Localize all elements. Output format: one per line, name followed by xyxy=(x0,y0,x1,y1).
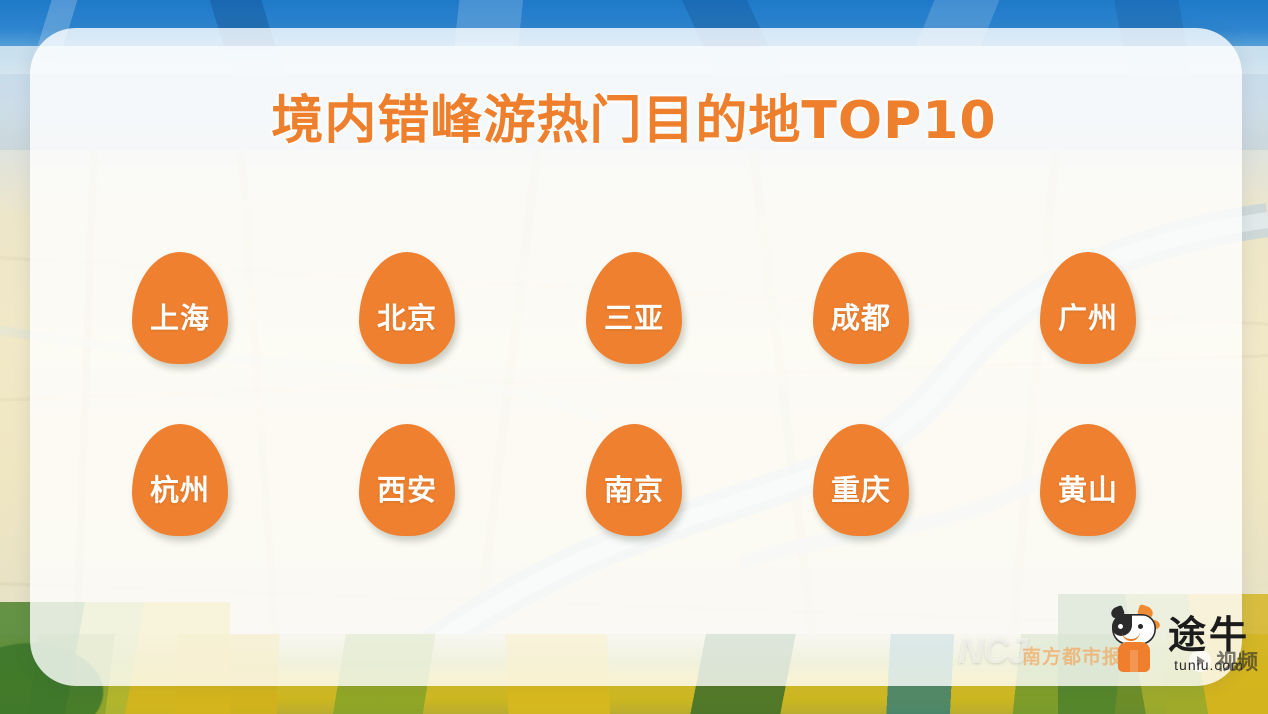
destination-badge-3[interactable]: 三亚 xyxy=(586,252,682,364)
destination-label: 西安 xyxy=(377,467,437,509)
destination-badge-7[interactable]: 西安 xyxy=(359,424,455,536)
destination-label: 南京 xyxy=(604,467,664,509)
destination-badge-8[interactable]: 南京 xyxy=(586,424,682,536)
destination-badge-9[interactable]: 重庆 xyxy=(813,424,909,536)
destination-row-2: 杭州 西安 南京 重庆 黄山 xyxy=(0,424,1268,536)
destination-badge-4[interactable]: 成都 xyxy=(813,252,909,364)
destination-label: 广州 xyxy=(1058,295,1118,337)
destination-badge-1[interactable]: 上海 xyxy=(132,252,228,364)
destination-label: 成都 xyxy=(831,295,891,337)
destination-badge-5[interactable]: 广州 xyxy=(1040,252,1136,364)
destination-label: 黄山 xyxy=(1058,467,1118,509)
destination-badge-10[interactable]: 黄山 xyxy=(1040,424,1136,536)
cow-eye-left xyxy=(1118,624,1123,629)
destination-label: 杭州 xyxy=(150,467,210,509)
destination-label: 北京 xyxy=(377,295,437,337)
destination-label: 三亚 xyxy=(604,295,664,337)
destination-badge-6[interactable]: 杭州 xyxy=(132,424,228,536)
destination-grid: 上海 北京 三亚 成都 广州 杭州 西安 南京 xyxy=(0,252,1268,536)
brand-text: 途牛 tuniu.com xyxy=(1168,616,1250,672)
brand-name-en: tuniu.com xyxy=(1174,658,1244,672)
destination-badge-2[interactable]: 北京 xyxy=(359,252,455,364)
brand-name-cn: 途牛 xyxy=(1168,616,1250,654)
cow-body xyxy=(1118,642,1150,672)
destination-row-1: 上海 北京 三亚 成都 广州 xyxy=(0,252,1268,364)
destination-label: 上海 xyxy=(150,295,210,337)
brand-logo: 途牛 tuniu.com xyxy=(1108,610,1250,672)
poster-stage: 境内错峰游热门目的地TOP10 上海 北京 三亚 成都 广州 杭州 xyxy=(0,0,1268,714)
cow-eye-right xyxy=(1138,624,1143,629)
destination-label: 重庆 xyxy=(831,467,891,509)
page-title: 境内错峰游热门目的地TOP10 xyxy=(0,78,1268,153)
cow-mascot-icon xyxy=(1108,610,1160,672)
